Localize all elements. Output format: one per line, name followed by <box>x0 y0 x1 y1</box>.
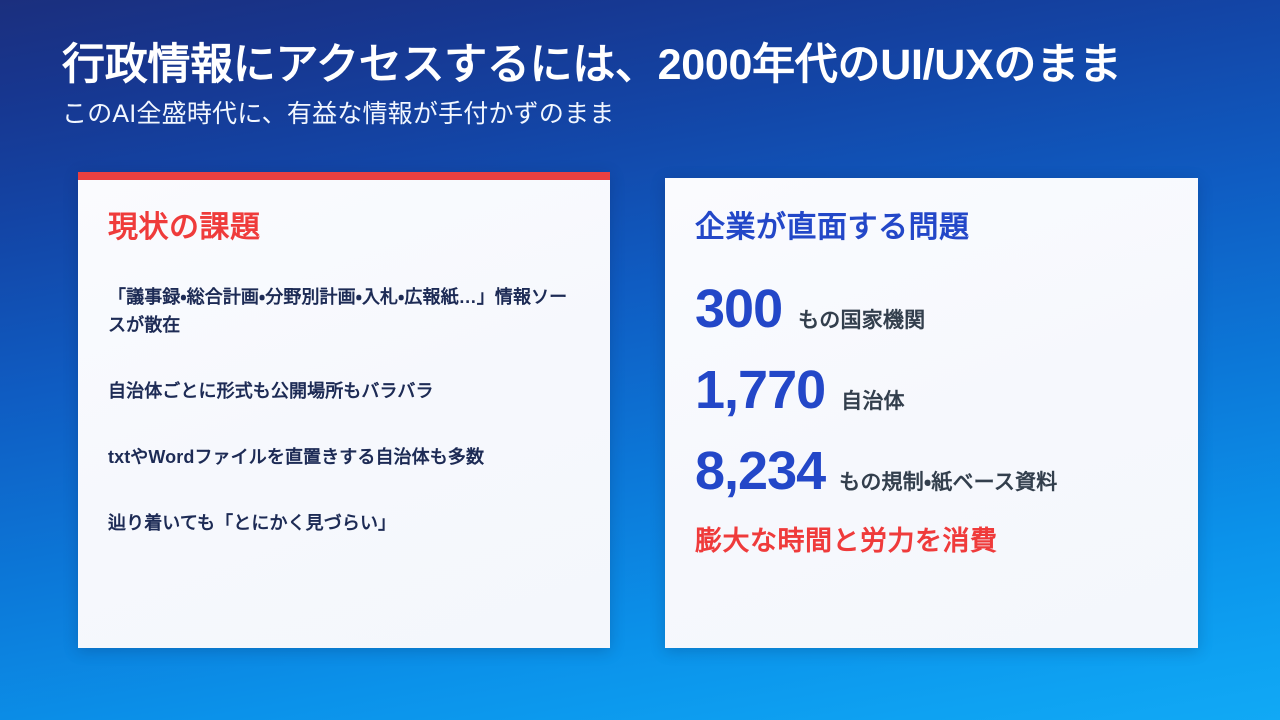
cards-row: 現状の課題 「議事録・総合計画・分野別計画・入札・広報紙…」情報ソースが散在 自… <box>78 172 1198 650</box>
current-issues-card: 現状の課題 「議事録・総合計画・分野別計画・入札・広報紙…」情報ソースが散在 自… <box>78 172 610 648</box>
page-subtitle: このAI全盛時代に、有益な情報が手付かずのまま <box>62 98 1222 131</box>
list-item: 辿り着いても「とにかく見づらい」 <box>108 510 580 538</box>
enterprise-problems-card: 企業が直面する問題 300 もの国家機関 1,770 自治体 8,234 もの規… <box>665 178 1198 648</box>
page-title: 行政情報にアクセスするには、2000年代のUI/UXのまま <box>62 40 1222 91</box>
list-item: 自治体ごとに形式も公開場所もバラバラ <box>108 378 580 406</box>
list-item: txtやWordファイルを直置きする自治体も多数 <box>108 444 580 472</box>
current-issues-card-body: 現状の課題 「議事録・総合計画・分野別計画・入札・広報紙…」情報ソースが散在 自… <box>78 172 610 537</box>
stat-label: 自治体 <box>841 389 905 414</box>
slide-header: 行政情報にアクセスするには、2000年代のUI/UXのまま このAI全盛時代に、… <box>62 40 1222 130</box>
stat-number: 8,234 <box>695 444 825 499</box>
current-issues-heading: 現状の課題 <box>108 210 580 246</box>
stat-number: 300 <box>695 282 782 337</box>
stat-row: 8,234 もの規制・紙ベース資料 <box>695 444 1168 499</box>
slide-root: 行政情報にアクセスするには、2000年代のUI/UXのまま このAI全盛時代に、… <box>0 0 1280 720</box>
list-item: 「議事録・総合計画・分野別計画・入札・広報紙…」情報ソースが散在 <box>108 284 580 340</box>
stat-row: 1,770 自治体 <box>695 363 1168 418</box>
card-accent-bar <box>78 172 610 180</box>
stat-row: 300 もの国家機関 <box>695 282 1168 337</box>
stat-label: もの規制・紙ベース資料 <box>839 470 1057 495</box>
issue-list: 「議事録・総合計画・分野別計画・入札・広報紙…」情報ソースが散在 自治体ごとに形… <box>108 284 580 537</box>
stats-list: 300 もの国家機関 1,770 自治体 8,234 もの規制・紙ベース資料 膨… <box>695 282 1168 559</box>
stats-footnote: 膨大な時間と労力を消費 <box>695 525 1168 559</box>
stat-number: 1,770 <box>695 363 825 418</box>
enterprise-problems-heading: 企業が直面する問題 <box>695 210 1168 246</box>
enterprise-problems-card-body: 企業が直面する問題 300 もの国家機関 1,770 自治体 8,234 もの規… <box>665 178 1198 559</box>
stat-label: もの国家機関 <box>798 308 925 333</box>
